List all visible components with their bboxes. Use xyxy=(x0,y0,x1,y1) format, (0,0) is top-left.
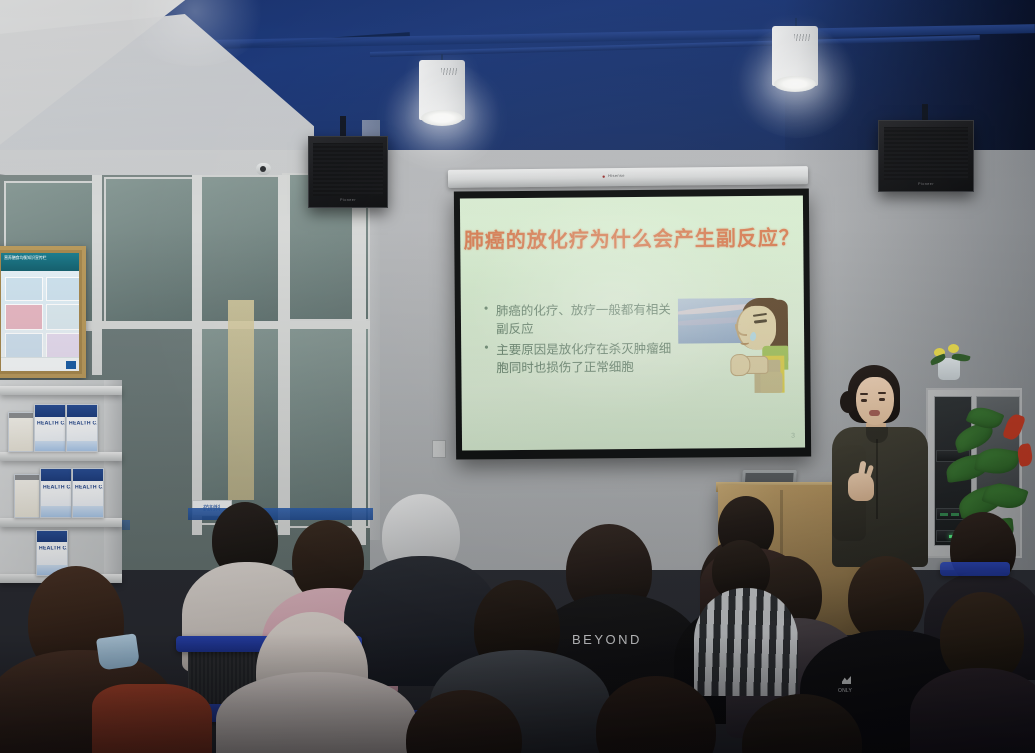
poster-logo xyxy=(66,361,76,369)
poster-cell xyxy=(5,277,43,301)
flower xyxy=(948,344,959,353)
product-box-foot xyxy=(73,506,103,517)
shirt-logo-text: ONLY xyxy=(838,688,852,694)
product-box: HEALTH CARE xyxy=(34,404,66,452)
window-mullion xyxy=(192,175,202,535)
projection-screen-housing: Hisense xyxy=(448,166,808,188)
jacket-text: BEYOND xyxy=(572,632,642,647)
product-box xyxy=(8,412,34,452)
screen-brand-label: Hisense xyxy=(608,174,625,179)
product-box-label: HEALTH CARE xyxy=(75,485,98,490)
door-gap-light xyxy=(228,300,254,500)
slide-bullet: 肺癌的化疗、放疗一般都有相关副反应 xyxy=(483,301,679,339)
product-box-foot xyxy=(67,441,97,451)
chair-back-rail[interactable] xyxy=(940,562,1010,576)
wall-outlet[interactable] xyxy=(432,440,446,458)
speaker-mount xyxy=(340,116,346,138)
shelf-side-panel xyxy=(104,380,122,580)
slide-surface: 肺癌的放化疗为什么会产生副反应？ 肺癌的化疗、放疗一般都有相关副反应 主要原因是… xyxy=(460,196,805,451)
poster-cell xyxy=(46,304,79,330)
illustration-person xyxy=(726,298,789,394)
window-mullion xyxy=(278,175,290,535)
presenter-eyebrow xyxy=(878,392,886,394)
person-hand xyxy=(730,354,750,376)
product-box-band xyxy=(67,405,97,417)
presenter-button-placket xyxy=(876,439,878,519)
plant-flower xyxy=(1002,412,1026,442)
poster-cell xyxy=(46,333,79,359)
slide-page-number: 3 xyxy=(791,433,795,440)
presenter-eye xyxy=(861,399,867,402)
slide-illustration xyxy=(678,298,789,394)
product-box-label: HEALTH CARE xyxy=(37,421,60,426)
security-camera xyxy=(256,163,271,175)
pendant-light xyxy=(419,60,465,120)
poster-cell xyxy=(46,277,79,301)
face-mask xyxy=(96,633,140,670)
poster-title: 营养膳食均衡知识宣传栏 xyxy=(4,255,46,261)
presenter-eye xyxy=(879,398,885,401)
slide-bullet: 主要原因是放化疗在杀灭肿瘤细胞同时也损伤了正常细胞 xyxy=(483,340,679,378)
speaker-grille xyxy=(313,143,383,196)
product-box-band xyxy=(35,405,65,417)
speaker-grille xyxy=(884,127,969,180)
audience-striped-shirt xyxy=(694,588,798,696)
wall-poster: 营养膳食均衡知识宣传栏 xyxy=(0,246,86,378)
product-box-foot xyxy=(35,441,65,451)
plant-flower xyxy=(1016,443,1034,467)
product-box: HEALTH CARE xyxy=(72,468,104,518)
window-mullion xyxy=(92,175,102,375)
product-box-foot xyxy=(41,506,71,517)
glass-pane xyxy=(104,177,196,327)
product-box: HEALTH CARE xyxy=(40,468,72,518)
shelf-board xyxy=(0,386,122,395)
slide-bullet-list: 肺癌的化疗、放疗一般都有相关副反应 主要原因是放化疗在杀灭肿瘤细胞同时也损伤了正… xyxy=(483,301,680,381)
lecture-room-photo: 药剂科 营养膳食均衡知识宣传栏 HEALTH CARE HE xyxy=(0,0,1035,753)
shelf-board xyxy=(0,518,122,527)
presenter-eyebrow xyxy=(860,393,868,395)
presenter xyxy=(826,365,944,565)
poster-cell xyxy=(5,304,43,330)
product-box-band xyxy=(41,469,71,481)
person-mouth xyxy=(740,340,749,345)
wall-speaker-right: Pioneer xyxy=(878,120,974,192)
pendant-vent xyxy=(441,68,457,75)
poster-cell xyxy=(5,333,43,359)
audience-red-jacket xyxy=(92,684,212,753)
product-box-band xyxy=(15,475,39,480)
presenter-hand xyxy=(848,473,874,501)
wall-blue-band xyxy=(188,508,373,520)
presenter-hair-tie xyxy=(840,391,856,413)
product-box-band xyxy=(37,531,67,542)
person-sleeve xyxy=(760,372,782,394)
product-box: HEALTH CARE xyxy=(66,404,98,452)
audience-shoulders xyxy=(910,668,1035,753)
product-box-label: HEALTH CARE xyxy=(43,485,66,490)
wall-speaker-left: Pioneer xyxy=(308,136,388,208)
product-box xyxy=(14,474,40,518)
poster-content: 营养膳食均衡知识宣传栏 xyxy=(1,253,79,371)
pendant-vent xyxy=(794,34,810,41)
window-mullion xyxy=(352,175,366,545)
poster-header: 营养膳食均衡知识宣传栏 xyxy=(1,253,79,271)
pendant-light xyxy=(772,26,818,86)
shelf-board xyxy=(0,452,122,461)
projection-screen: 肺癌的放化疗为什么会产生副反应？ 肺癌的化疗、放疗一般都有相关副反应 主要原因是… xyxy=(454,188,811,459)
product-box-label: HEALTH CARE xyxy=(39,546,62,551)
speaker-brand-label: Pioneer xyxy=(340,198,356,203)
product-box-label: HEALTH CARE xyxy=(69,421,92,426)
speaker-brand-label: Pioneer xyxy=(918,182,934,187)
speaker-mount xyxy=(922,104,928,120)
slide-title: 肺癌的放化疗为什么会产生副反应？ xyxy=(460,221,803,254)
product-box-band xyxy=(9,413,33,418)
product-box-band xyxy=(73,469,103,481)
presenter-mouth xyxy=(869,410,880,416)
